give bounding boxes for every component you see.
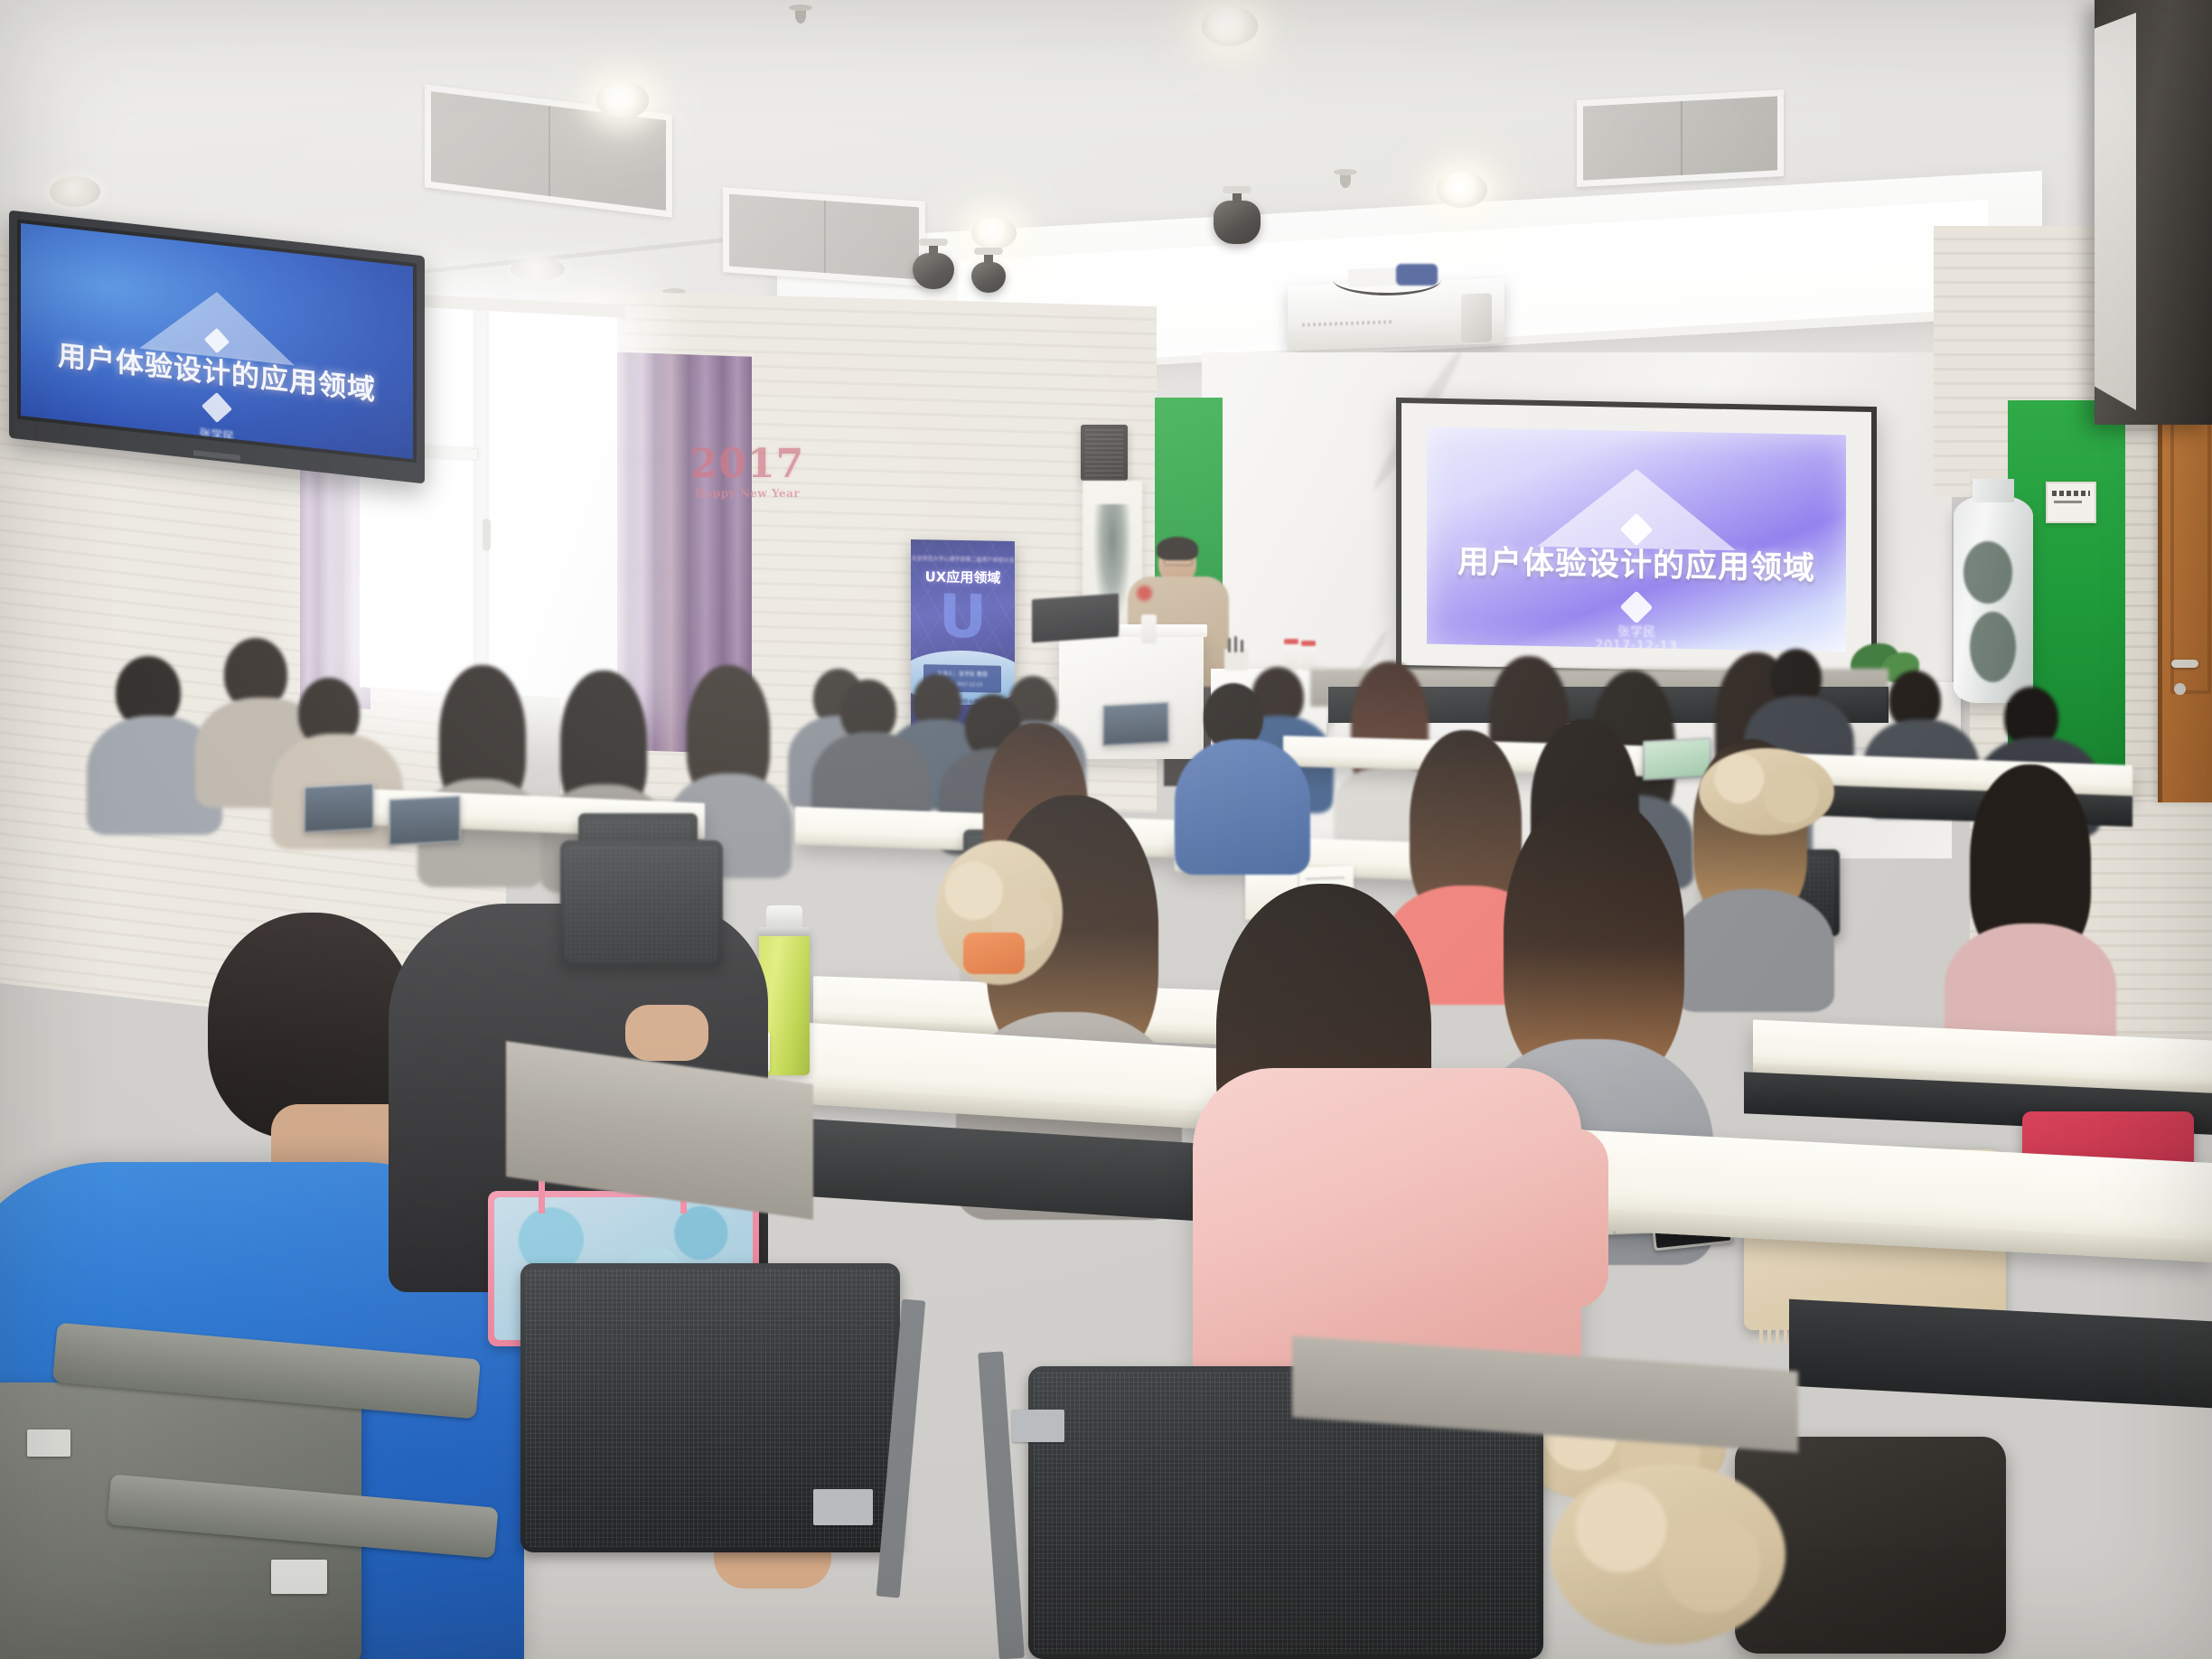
chair-clip bbox=[1012, 1410, 1064, 1442]
laptop[interactable] bbox=[1643, 737, 1711, 781]
desk-front-panel bbox=[1789, 1299, 2212, 1409]
attendee-pink-coat-sleeve bbox=[1455, 1128, 1608, 1308]
presenter-hair bbox=[1157, 537, 1198, 560]
backpack-buckle[interactable] bbox=[27, 1429, 70, 1457]
window-mullion-vertical bbox=[475, 305, 487, 694]
wooden-door bbox=[2158, 396, 2212, 802]
chair-frame bbox=[978, 1351, 1025, 1659]
decal-year: 2017 bbox=[689, 445, 806, 484]
fur-trim bbox=[1551, 1464, 1786, 1645]
slide-gem-small-icon bbox=[1620, 591, 1654, 624]
presenter-glasses-icon bbox=[1164, 558, 1193, 566]
projector-vent bbox=[1302, 320, 1393, 327]
banner-letter-u: U bbox=[911, 586, 1015, 648]
door-frame bbox=[2125, 390, 2161, 797]
pen bbox=[1241, 640, 1243, 652]
air-vent bbox=[723, 187, 925, 286]
water-bottle bbox=[1301, 645, 1316, 670]
new-year-decal: 2017 Happy New Year bbox=[689, 445, 806, 500]
lecture-hall-photo: 2017 Happy New Year 用户体验设计的应用领域 张学民 2017… bbox=[0, 0, 2212, 1659]
ceiling-downlight bbox=[1202, 6, 1258, 46]
pen bbox=[1228, 638, 1231, 652]
attendee-body bbox=[1673, 889, 1834, 1012]
ceiling-downlight bbox=[511, 258, 565, 281]
attendee-body bbox=[1175, 739, 1310, 875]
projector-lens bbox=[1461, 293, 1492, 342]
stage-spotlight bbox=[1214, 201, 1261, 244]
porcelain-vase bbox=[1954, 495, 2033, 703]
decal-greeting: Happy New Year bbox=[689, 487, 806, 500]
slide-gem-small-icon bbox=[202, 392, 232, 423]
chair-mesh bbox=[566, 846, 717, 961]
door-panel bbox=[2170, 417, 2211, 694]
water-bottle bbox=[1284, 643, 1298, 670]
orange-pouch bbox=[963, 933, 1025, 974]
bottle-cap bbox=[1284, 639, 1298, 644]
door-handle[interactable] bbox=[2171, 660, 2198, 668]
laptop-screen bbox=[305, 784, 372, 831]
vase-decoration bbox=[1970, 612, 2016, 682]
ceiling-downlight bbox=[1437, 172, 1487, 208]
tv-screen: 用户体验设计的应用领域 张学民 2017-12-13 bbox=[21, 223, 413, 459]
notebook-line bbox=[1306, 877, 1345, 881]
laptop[interactable] bbox=[304, 783, 374, 833]
laptop-screen bbox=[1645, 739, 1710, 779]
pen-cup bbox=[1224, 649, 1248, 670]
podium-laptop bbox=[1032, 594, 1119, 643]
bottle-cap bbox=[1301, 641, 1316, 646]
wall-tv-right[interactable] bbox=[2095, 0, 2212, 425]
tv-bezel: 用户体验设计的应用领域 张学民 2017-12-13 bbox=[17, 220, 417, 464]
chair-clip bbox=[813, 1489, 873, 1525]
thermos-ring bbox=[759, 927, 810, 936]
sprinkler-head bbox=[1340, 172, 1351, 188]
water-bottle bbox=[1141, 614, 1157, 643]
slide-title: 用户体验设计的应用领域 bbox=[1427, 536, 1846, 590]
backpack-buckle[interactable] bbox=[271, 1560, 327, 1594]
air-vent bbox=[1577, 89, 1784, 187]
tv-brand-logo bbox=[193, 450, 240, 461]
fur-hood bbox=[1699, 748, 1834, 835]
wall-tv-left[interactable]: 用户体验设计的应用领域 张学民 2017-12-13 bbox=[9, 211, 425, 484]
laptop-screen bbox=[390, 797, 459, 844]
chair-back[interactable] bbox=[560, 840, 723, 967]
vase-neck bbox=[1973, 479, 2014, 502]
vase-decoration bbox=[1964, 541, 2013, 604]
wall-speaker bbox=[1081, 425, 1128, 481]
stage-spotlight bbox=[913, 253, 954, 289]
ceiling-downlight bbox=[596, 81, 649, 119]
laptop[interactable] bbox=[1102, 701, 1169, 746]
door-lock-icon bbox=[2174, 683, 2186, 695]
window-handle[interactable] bbox=[483, 519, 491, 551]
projected-slide: 用户体验设计的应用领域 张学民 2017-12-13 bbox=[1427, 427, 1846, 652]
laptop-screen bbox=[1104, 703, 1167, 745]
tv-right-screen bbox=[2095, 13, 2136, 410]
attendee-hand bbox=[625, 1005, 708, 1061]
ceiling-downlight bbox=[971, 217, 1017, 249]
ceiling-downlight bbox=[50, 176, 100, 207]
laptop[interactable] bbox=[389, 795, 461, 846]
projector-cable-knot bbox=[1396, 264, 1438, 286]
notice-board-sign bbox=[2046, 482, 2096, 523]
sprinkler-head bbox=[795, 7, 806, 23]
presenter-badge-icon bbox=[1137, 586, 1152, 601]
projection-screen[interactable]: 用户体验设计的应用领域 张学民 2017-12-13 bbox=[1396, 398, 1877, 680]
pen bbox=[1234, 636, 1237, 652]
